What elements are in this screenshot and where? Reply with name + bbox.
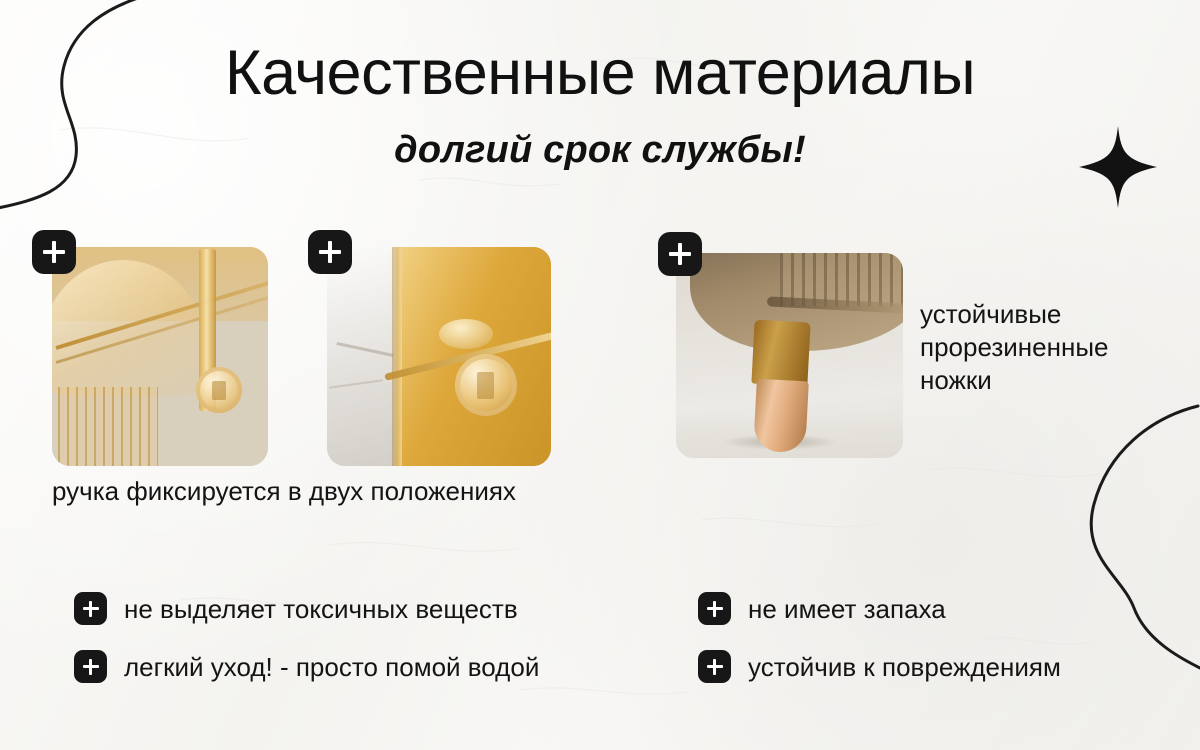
plus-badge-icon xyxy=(74,650,107,683)
list-item[interactable]: устойчив к повреждениям xyxy=(698,650,1061,683)
feature-label: не имеет запаха xyxy=(748,594,946,624)
photo-tile-handle-folded[interactable] xyxy=(327,247,551,466)
gallery-caption: ручка фиксируется в двух положениях xyxy=(52,476,516,506)
plus-icon-vertical-bar xyxy=(89,601,93,617)
plus-badge-icon xyxy=(698,650,731,683)
plus-icon-vertical-bar xyxy=(89,659,93,675)
description-line: прорезиненные xyxy=(920,331,1180,364)
plus-badge-icon[interactable] xyxy=(308,230,352,274)
product-photo xyxy=(327,247,551,466)
page-subtitle: долгий срок службы! xyxy=(0,126,1200,174)
feature-list-right: не имеет запаха устойчив к повреждениям xyxy=(698,592,1061,683)
feature-label: не выделяет токсичных веществ xyxy=(124,594,518,624)
photo-tile-handle-upright[interactable] xyxy=(52,247,268,466)
product-photo xyxy=(52,247,268,466)
plus-icon-vertical-bar xyxy=(713,659,717,675)
rubber-foot-description: устойчивые прорезиненные ножки xyxy=(920,298,1180,397)
plus-icon-vertical-bar xyxy=(678,243,683,265)
plus-badge-icon[interactable] xyxy=(658,232,702,276)
plus-badge-icon xyxy=(698,592,731,625)
plus-icon-vertical-bar xyxy=(52,241,57,263)
plus-badge-icon xyxy=(74,592,107,625)
page-title: Качественные материалы xyxy=(0,36,1200,110)
photo-tile-rubber-foot[interactable] xyxy=(676,253,903,458)
feature-list-left: не выделяет токсичных веществ легкий ухо… xyxy=(74,592,539,683)
plus-icon-vertical-bar xyxy=(328,241,333,263)
feature-label: устойчив к повреждениям xyxy=(748,652,1061,682)
list-item[interactable]: не выделяет токсичных веществ xyxy=(74,592,539,625)
product-photo xyxy=(676,253,903,458)
list-item[interactable]: легкий уход! - просто помой водой xyxy=(74,650,539,683)
description-line: ножки xyxy=(920,364,1180,397)
description-line: устойчивые xyxy=(920,298,1180,331)
wave-line-icon xyxy=(0,0,146,224)
list-item[interactable]: не имеет запаха xyxy=(698,592,1061,625)
plus-icon-vertical-bar xyxy=(713,601,717,617)
plus-badge-icon[interactable] xyxy=(32,230,76,274)
feature-label: легкий уход! - просто помой водой xyxy=(124,652,539,682)
